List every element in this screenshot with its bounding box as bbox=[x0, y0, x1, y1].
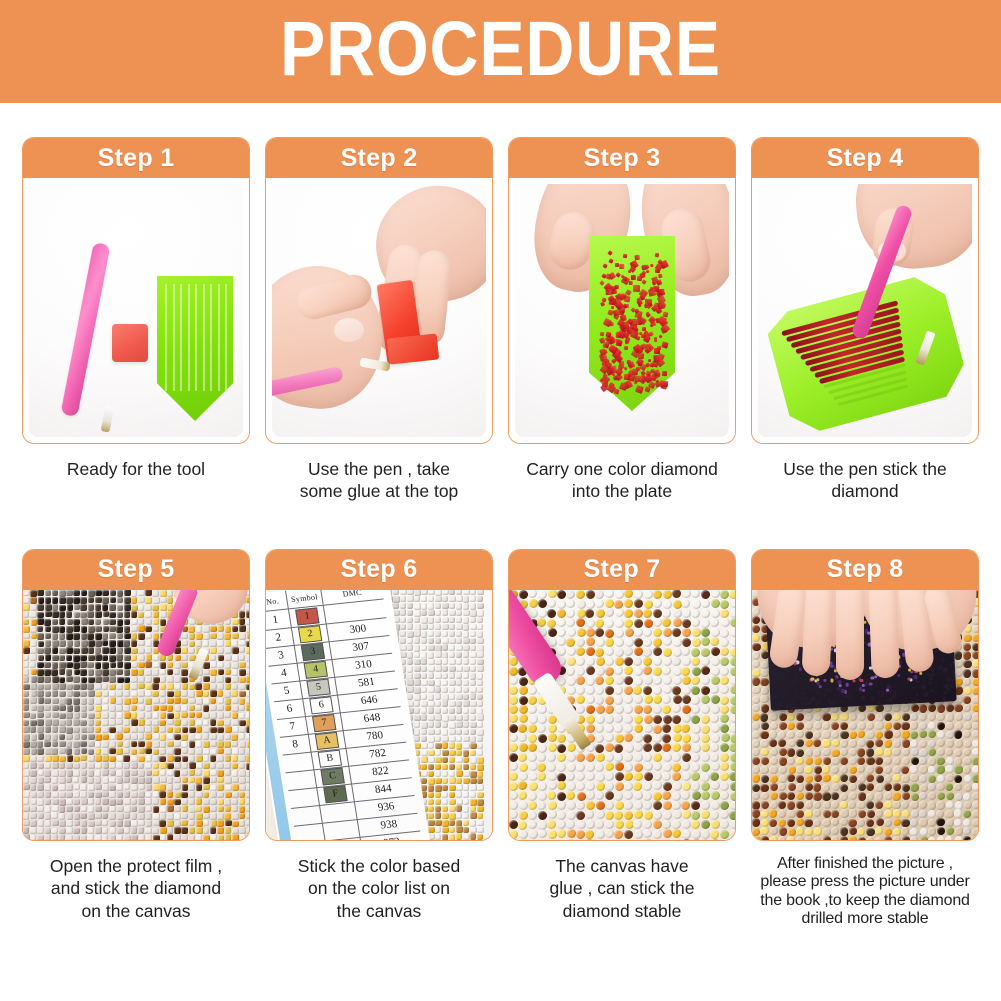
mosaic-tile bbox=[66, 741, 73, 748]
mosaic-tile bbox=[682, 638, 691, 647]
mosaic-tile bbox=[159, 756, 166, 763]
mosaic-tile bbox=[131, 691, 138, 698]
step-2-caption: Use the pen , take some glue at the top bbox=[261, 458, 497, 503]
step-5-header: Step 5 bbox=[23, 550, 249, 590]
mosaic-tile bbox=[247, 741, 249, 748]
mosaic-tile bbox=[663, 753, 672, 762]
mosaic-tile bbox=[519, 743, 528, 752]
mosaic-tile bbox=[23, 755, 30, 762]
mosaic-tile bbox=[30, 604, 37, 611]
mosaic-tile bbox=[752, 766, 760, 774]
mosaic-tile bbox=[901, 766, 909, 774]
red-diamond bbox=[662, 341, 669, 348]
mosaic-tile bbox=[124, 806, 131, 813]
mosaic-tile bbox=[210, 734, 217, 741]
mosaic-tile bbox=[66, 662, 73, 669]
mosaic-tile bbox=[95, 820, 102, 827]
mosaic-tile bbox=[509, 772, 518, 781]
mosaic-tile bbox=[955, 836, 963, 840]
mosaic-tile bbox=[822, 774, 830, 782]
panel-bead bbox=[892, 691, 896, 695]
mosaic-tile bbox=[421, 658, 427, 664]
mosaic-tile bbox=[614, 696, 623, 705]
steps-row-top: Step 1 Ready for the tool Step 2 bbox=[0, 137, 1001, 503]
red-diamond bbox=[654, 355, 661, 362]
mosaic-tile bbox=[672, 715, 681, 724]
red-diamond bbox=[611, 306, 614, 309]
mosaic-tile bbox=[95, 647, 102, 654]
step-5-card[interactable]: Step 5 bbox=[22, 549, 250, 841]
mosaic-tile bbox=[59, 683, 66, 690]
mosaic-tile bbox=[662, 705, 671, 714]
mosaic-tile bbox=[67, 705, 74, 712]
mosaic-tile bbox=[160, 813, 167, 820]
mosaic-tile bbox=[634, 734, 643, 743]
mosaic-tile bbox=[928, 722, 936, 730]
mosaic-tile bbox=[779, 748, 787, 756]
mosaic-tile bbox=[928, 801, 936, 809]
mosaic-tile bbox=[407, 603, 413, 609]
mosaic-tile bbox=[911, 810, 919, 818]
mosaic-tile bbox=[849, 775, 857, 783]
mosaic-tile bbox=[189, 791, 196, 798]
mosaic-tile bbox=[972, 828, 978, 836]
mosaic-tile bbox=[414, 630, 420, 636]
mosaic-tile bbox=[624, 657, 633, 666]
mosaic-tile bbox=[893, 774, 901, 782]
step-1-card[interactable]: Step 1 bbox=[22, 137, 250, 444]
mosaic-tile bbox=[449, 722, 455, 728]
mosaic-tile bbox=[414, 610, 420, 616]
mosaic-tile bbox=[428, 631, 434, 637]
mosaic-tile bbox=[189, 705, 196, 712]
mosaic-tile bbox=[66, 669, 73, 676]
mosaic-tile bbox=[509, 714, 518, 723]
mosaic-tile bbox=[788, 783, 796, 791]
mosaic-tile bbox=[88, 719, 95, 726]
mosaic-tile bbox=[203, 705, 210, 712]
mosaic-tile bbox=[624, 590, 633, 599]
mosaic-tile bbox=[866, 837, 874, 840]
mosaic-tile bbox=[955, 660, 963, 668]
mosaic-tile bbox=[138, 813, 145, 820]
mosaic-tile bbox=[44, 734, 51, 741]
mosaic-tile bbox=[414, 687, 420, 693]
mosaic-tile bbox=[224, 691, 231, 698]
mosaic-tile bbox=[116, 835, 123, 840]
mosaic-tile bbox=[928, 757, 936, 765]
mosaic-tile bbox=[449, 680, 455, 686]
mosaic-tile bbox=[832, 739, 840, 747]
panel-bead bbox=[800, 701, 804, 705]
mosaic-tile bbox=[88, 827, 95, 834]
mosaic-tile bbox=[576, 772, 585, 781]
mosaic-tile bbox=[181, 698, 188, 705]
mosaic-tile bbox=[730, 648, 735, 657]
mosaic-tile bbox=[681, 791, 690, 800]
mosaic-tile bbox=[463, 813, 469, 819]
mosaic-tile bbox=[189, 798, 196, 805]
mosaic-tile bbox=[605, 829, 614, 838]
mosaic-tile bbox=[109, 777, 116, 784]
mosaic-tile bbox=[232, 770, 239, 777]
step-3-card[interactable]: Step 3 bbox=[508, 137, 736, 444]
red-diamond bbox=[662, 311, 668, 317]
mosaic-tile bbox=[246, 626, 249, 633]
mosaic-tile bbox=[414, 590, 420, 596]
mosaic-tile bbox=[518, 821, 527, 830]
mosaic-tile bbox=[945, 836, 953, 840]
mosaic-tile bbox=[52, 762, 59, 769]
mosaic-tile bbox=[414, 694, 420, 700]
mosaic-tile bbox=[470, 708, 476, 714]
mosaic-tile bbox=[538, 734, 547, 743]
step-2-card[interactable]: Step 2 bbox=[265, 137, 493, 444]
mosaic-tile bbox=[605, 696, 614, 705]
mosaic-tile bbox=[919, 749, 927, 757]
mosaic-tile bbox=[770, 722, 778, 730]
mosaic-tile bbox=[972, 730, 978, 738]
mosaic-tile bbox=[813, 801, 821, 809]
mosaic-tile bbox=[805, 828, 813, 836]
mosaic-tile bbox=[615, 762, 624, 771]
mosaic-tile bbox=[814, 774, 822, 782]
mosaic-tile bbox=[435, 590, 441, 596]
step-card-4: Step 4 Use the pen stick the diamond bbox=[751, 137, 979, 503]
mosaic-tile bbox=[153, 712, 160, 719]
mosaic-tile bbox=[124, 712, 131, 719]
mosaic-tile bbox=[760, 784, 768, 792]
mosaic-tile bbox=[109, 705, 116, 712]
mosaic-tile bbox=[95, 784, 102, 791]
mosaic-tile bbox=[449, 764, 455, 770]
mosaic-tile bbox=[435, 799, 441, 805]
mosaic-tile bbox=[701, 763, 710, 772]
mosaic-tile bbox=[153, 733, 160, 740]
step-card-6: Step 6 No.SymbolDMC112230033307443105558… bbox=[265, 549, 493, 929]
mosaic-tile bbox=[624, 647, 633, 656]
mosaic-tile bbox=[131, 719, 138, 726]
mosaic-tile bbox=[477, 778, 483, 784]
mosaic-tile bbox=[893, 828, 901, 836]
mosaic-tile bbox=[831, 722, 839, 730]
mosaic-tile bbox=[103, 777, 110, 784]
mosaic-tile bbox=[615, 619, 624, 628]
mosaic-tile bbox=[477, 680, 483, 686]
mosaic-tile bbox=[138, 590, 145, 596]
mosaic-tile bbox=[88, 734, 95, 741]
mosaic-tile bbox=[662, 724, 671, 733]
mosaic-tile bbox=[74, 705, 81, 712]
panel-bead bbox=[810, 677, 814, 681]
mosaic-tile bbox=[37, 806, 44, 813]
mosaic-tile bbox=[138, 770, 145, 777]
red-diamonds-group bbox=[515, 184, 729, 437]
mosaic-tile bbox=[711, 839, 720, 840]
mosaic-tile bbox=[59, 605, 66, 612]
step-8-card[interactable]: Step 8 bbox=[751, 549, 979, 841]
mosaic-tile bbox=[884, 748, 892, 756]
mosaic-tile bbox=[435, 603, 441, 609]
mosaic-tile bbox=[857, 748, 865, 756]
mosaic-tile bbox=[239, 798, 246, 805]
mosaic-tile bbox=[624, 705, 633, 714]
mosaic-tile bbox=[964, 722, 972, 730]
mosaic-tile bbox=[681, 801, 690, 810]
mosaic-tile bbox=[407, 595, 413, 601]
mosaic-tile bbox=[247, 661, 249, 668]
mosaic-tile bbox=[400, 590, 406, 595]
mosaic-tile bbox=[59, 705, 66, 712]
mosaic-tile bbox=[145, 611, 152, 618]
mosaic-tile bbox=[442, 624, 448, 630]
mosaic-tile bbox=[752, 731, 760, 739]
mosaic-tile bbox=[44, 662, 51, 669]
mosaic-tile bbox=[720, 657, 729, 666]
mosaic-tile bbox=[752, 757, 760, 765]
red-diamond bbox=[635, 385, 644, 394]
mosaic-tile bbox=[605, 590, 614, 599]
mosaic-tile bbox=[210, 806, 217, 813]
mosaic-tile bbox=[74, 669, 81, 676]
mosaic-tile bbox=[167, 834, 174, 839]
mosaic-tile bbox=[653, 830, 662, 839]
mosaic-tile bbox=[955, 801, 963, 809]
mosaic-tile bbox=[175, 792, 182, 799]
panel-bead bbox=[812, 697, 816, 701]
mosaic-tile bbox=[210, 834, 217, 839]
mosaic-tile bbox=[644, 772, 653, 781]
mosaic-tile bbox=[449, 617, 455, 623]
mosaic-tile bbox=[456, 631, 462, 637]
mosaic-tile bbox=[840, 801, 848, 809]
mosaic-tile bbox=[769, 739, 777, 747]
mosaic-tile bbox=[585, 810, 594, 819]
mosaic-tile bbox=[963, 634, 971, 642]
mosaic-tile bbox=[456, 784, 462, 790]
mosaic-tile bbox=[138, 756, 145, 763]
mosaic-tile bbox=[519, 714, 528, 723]
mosaic-tile bbox=[160, 611, 167, 618]
mosaic-tile bbox=[682, 734, 691, 743]
mosaic-tile bbox=[605, 647, 614, 656]
mosaic-tile bbox=[813, 837, 821, 840]
mosaic-tile bbox=[117, 619, 124, 626]
mosaic-tile bbox=[682, 686, 691, 695]
mosaic-tile bbox=[831, 766, 839, 774]
mosaic-tile bbox=[23, 712, 30, 719]
mosaic-tile bbox=[615, 782, 624, 791]
mosaic-tile bbox=[116, 669, 123, 676]
mosaic-tile bbox=[752, 748, 760, 756]
mosaic-tile bbox=[145, 661, 152, 668]
mosaic-tile bbox=[518, 791, 527, 800]
mosaic-tile bbox=[595, 820, 604, 829]
mosaic-tile bbox=[95, 813, 102, 820]
mosaic-tile bbox=[682, 830, 691, 839]
step-8-header: Step 8 bbox=[752, 550, 978, 590]
mosaic-tile bbox=[44, 684, 51, 691]
red-diamond bbox=[644, 386, 651, 393]
mosaic-tile bbox=[246, 684, 249, 691]
mosaic-tile bbox=[605, 782, 614, 791]
mosaic-tile bbox=[52, 611, 59, 618]
mosaic-tile bbox=[66, 590, 73, 597]
mosaic-tile bbox=[73, 676, 80, 683]
mosaic-tile bbox=[67, 770, 74, 777]
mosaic-tile bbox=[456, 826, 462, 832]
mosaic-tile bbox=[662, 618, 671, 627]
step-7-card[interactable]: Step 7 bbox=[508, 549, 736, 841]
mosaic-tile bbox=[902, 836, 910, 840]
mosaic-tile bbox=[566, 590, 575, 599]
mosaic-tile bbox=[80, 604, 87, 611]
mosaic-tile bbox=[477, 827, 483, 833]
mosaic-tile bbox=[547, 609, 556, 618]
mosaic-tile bbox=[538, 599, 547, 608]
mosaic-tile bbox=[23, 611, 29, 618]
mosaic-tile bbox=[518, 724, 527, 733]
mosaic-tile bbox=[196, 763, 203, 770]
mosaic-tile bbox=[955, 739, 963, 747]
mosaic-tile bbox=[146, 619, 153, 626]
mosaic-tile bbox=[954, 704, 962, 712]
panel-bead bbox=[782, 675, 786, 679]
mosaic-tile bbox=[174, 727, 181, 734]
mosaic-tile bbox=[225, 640, 232, 647]
mosaic-tile bbox=[174, 669, 181, 676]
mosaic-tile bbox=[477, 596, 483, 602]
mosaic-tile bbox=[470, 743, 476, 749]
mosaic-tile bbox=[232, 784, 239, 791]
mosaic-tile bbox=[875, 827, 883, 835]
mosaic-tile bbox=[442, 715, 448, 721]
mosaic-tile bbox=[692, 744, 701, 753]
mosaic-tile bbox=[52, 626, 59, 633]
mosaic-tile bbox=[691, 820, 700, 829]
mosaic-tile bbox=[557, 628, 566, 637]
mosaic-tile bbox=[124, 798, 131, 805]
mosaic-tile bbox=[701, 715, 710, 724]
mosaic-tile bbox=[634, 772, 643, 781]
mosaic-tile bbox=[605, 811, 614, 820]
mosaic-tile bbox=[217, 676, 224, 683]
mosaic-tile bbox=[59, 677, 66, 684]
mosaic-tile bbox=[37, 690, 44, 697]
panel-bead bbox=[887, 684, 891, 688]
mosaic-tile bbox=[153, 763, 160, 770]
mosaic-tile bbox=[509, 743, 518, 752]
mosaic-tile bbox=[710, 811, 719, 820]
mosaic-tile bbox=[95, 597, 102, 604]
mosaic-tile bbox=[80, 720, 87, 727]
mosaic-tile bbox=[37, 618, 44, 625]
mosaic-tile bbox=[174, 748, 181, 755]
mosaic-tile bbox=[663, 763, 672, 772]
mosaic-tile bbox=[232, 828, 239, 835]
mosaic-tile bbox=[73, 662, 80, 669]
mosaic-tile bbox=[131, 820, 138, 827]
mosaic-tile bbox=[691, 657, 700, 666]
mosaic-tile bbox=[59, 668, 66, 675]
mosaic-tile bbox=[701, 686, 710, 695]
mosaic-tile bbox=[760, 739, 768, 747]
mosaic-tile bbox=[857, 828, 865, 836]
step-6-card[interactable]: Step 6 No.SymbolDMC112230033307443105558… bbox=[265, 549, 493, 841]
mosaic-tile bbox=[893, 836, 901, 840]
mosaic-tile bbox=[145, 763, 152, 770]
step-1-photo bbox=[29, 184, 243, 437]
mosaic-tile bbox=[95, 683, 102, 690]
mosaic-tile bbox=[787, 757, 795, 765]
mosaic-tile bbox=[88, 770, 95, 777]
mosaic-tile bbox=[239, 691, 246, 698]
mosaic-tile bbox=[586, 791, 595, 800]
mosaic-tile bbox=[761, 801, 769, 809]
mosaic-tile bbox=[175, 655, 182, 662]
mosaic-tile bbox=[217, 770, 224, 777]
mosaic-tile bbox=[463, 764, 469, 770]
mosaic-tile bbox=[730, 801, 735, 810]
mosaic-tile bbox=[182, 762, 189, 769]
color-swatch: B bbox=[318, 749, 342, 767]
mosaic-tile bbox=[840, 748, 848, 756]
mosaic-tile bbox=[146, 741, 153, 748]
mosaic-tile bbox=[972, 678, 978, 686]
mosaic-tile bbox=[109, 684, 116, 691]
mosaic-tile bbox=[59, 748, 66, 755]
mosaic-tile bbox=[160, 762, 167, 769]
mosaic-tile bbox=[463, 757, 469, 763]
panel-bead bbox=[840, 699, 844, 703]
mosaic-tile bbox=[634, 599, 643, 608]
mosaic-tile bbox=[217, 633, 224, 640]
mosaic-tile bbox=[117, 792, 124, 799]
mosaic-tile bbox=[730, 685, 735, 694]
mosaic-tile bbox=[109, 691, 116, 698]
mosaic-tile bbox=[225, 827, 232, 834]
mosaic-tile bbox=[662, 666, 671, 675]
mosaic-tile bbox=[596, 830, 605, 839]
mosaic-tile bbox=[730, 638, 735, 647]
mosaic-tile bbox=[102, 655, 109, 662]
mosaic-tile bbox=[109, 734, 116, 741]
mosaic-tile bbox=[463, 827, 469, 833]
mosaic-tile bbox=[937, 739, 945, 747]
mosaic-tile bbox=[840, 722, 848, 730]
mosaic-tile bbox=[576, 830, 585, 839]
panel-bead bbox=[818, 685, 822, 689]
mosaic-tile bbox=[761, 819, 769, 827]
step-4-card[interactable]: Step 4 bbox=[751, 137, 979, 444]
mosaic-tile bbox=[81, 770, 88, 777]
mosaic-tile bbox=[752, 696, 760, 704]
mosaic-tile bbox=[218, 697, 225, 704]
mosaic-tile bbox=[225, 820, 232, 827]
mosaic-tile bbox=[463, 771, 469, 777]
mosaic-tile bbox=[181, 834, 188, 840]
mosaic-tile bbox=[673, 618, 682, 627]
mosaic-tile bbox=[117, 741, 124, 748]
mosaic-tile bbox=[109, 799, 116, 806]
mosaic-tile bbox=[210, 655, 217, 662]
mosaic-tile bbox=[779, 722, 787, 730]
mosaic-tile bbox=[59, 655, 66, 662]
mosaic-tile bbox=[81, 626, 88, 633]
mosaic-tile bbox=[576, 667, 585, 676]
mosaic-tile bbox=[529, 782, 538, 791]
mosaic-tile bbox=[814, 757, 822, 765]
